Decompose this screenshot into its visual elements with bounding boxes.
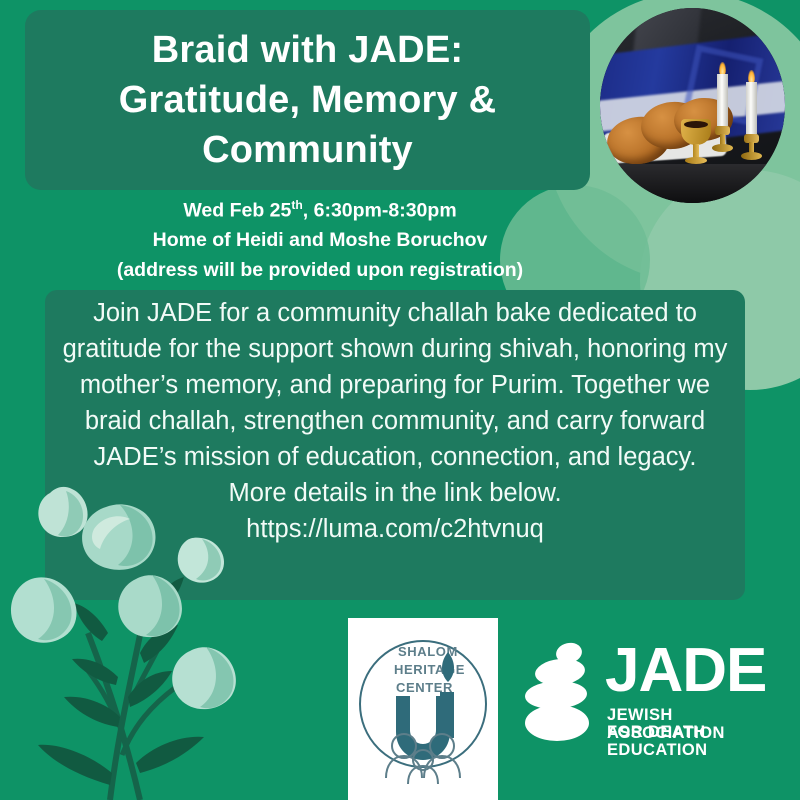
jade-wordmark: JADE	[605, 640, 766, 702]
candlestick-holder	[739, 134, 764, 160]
event-location: Home of Heidi and Moshe Boruchov	[0, 226, 640, 256]
event-date: Wed Feb 25	[183, 200, 291, 222]
jade-tagline-line-2: FOR DEATH EDUCATION	[607, 723, 787, 760]
event-datetime: Wed Feb 25th, 6:30pm-8:30pm	[0, 196, 640, 226]
body-paragraph: Join JADE for a community challah bake d…	[55, 296, 735, 476]
shalom-heritage-center-logo: SHALOM HERITAGE CENTER	[348, 618, 498, 800]
shc-line-2: HERITAGE	[394, 662, 465, 677]
candle-wax	[717, 74, 728, 126]
event-details: Wed Feb 25th, 6:30pm-8:30pm Home of Heid…	[0, 196, 640, 285]
jade-cairn-icon	[525, 642, 597, 742]
jade-logo: JADE JEWISH ASSOCIATION FOR DEATH EDUCAT…	[525, 640, 787, 752]
shc-letter-i	[440, 692, 454, 738]
shc-logo-mark: SHALOM HERITAGE CENTER	[356, 626, 490, 786]
candle-wax	[746, 82, 757, 134]
event-address-note: (address will be provided upon registrat…	[0, 256, 640, 286]
challah-table-photo	[600, 8, 785, 203]
page-title: Braid with JADE: Gratitude, Memory & Com…	[103, 25, 513, 175]
candlestick-holder	[710, 126, 735, 152]
title-card: Braid with JADE: Gratitude, Memory & Com…	[25, 10, 590, 190]
date-ordinal-suffix: th	[291, 198, 302, 212]
flower-blossoms	[11, 487, 236, 709]
flowers-illustration	[0, 455, 260, 800]
event-time: , 6:30pm-8:30pm	[303, 200, 457, 222]
kiddush-cup	[681, 119, 711, 165]
flyer-canvas: Braid with JADE: Gratitude, Memory & Com…	[0, 0, 800, 800]
